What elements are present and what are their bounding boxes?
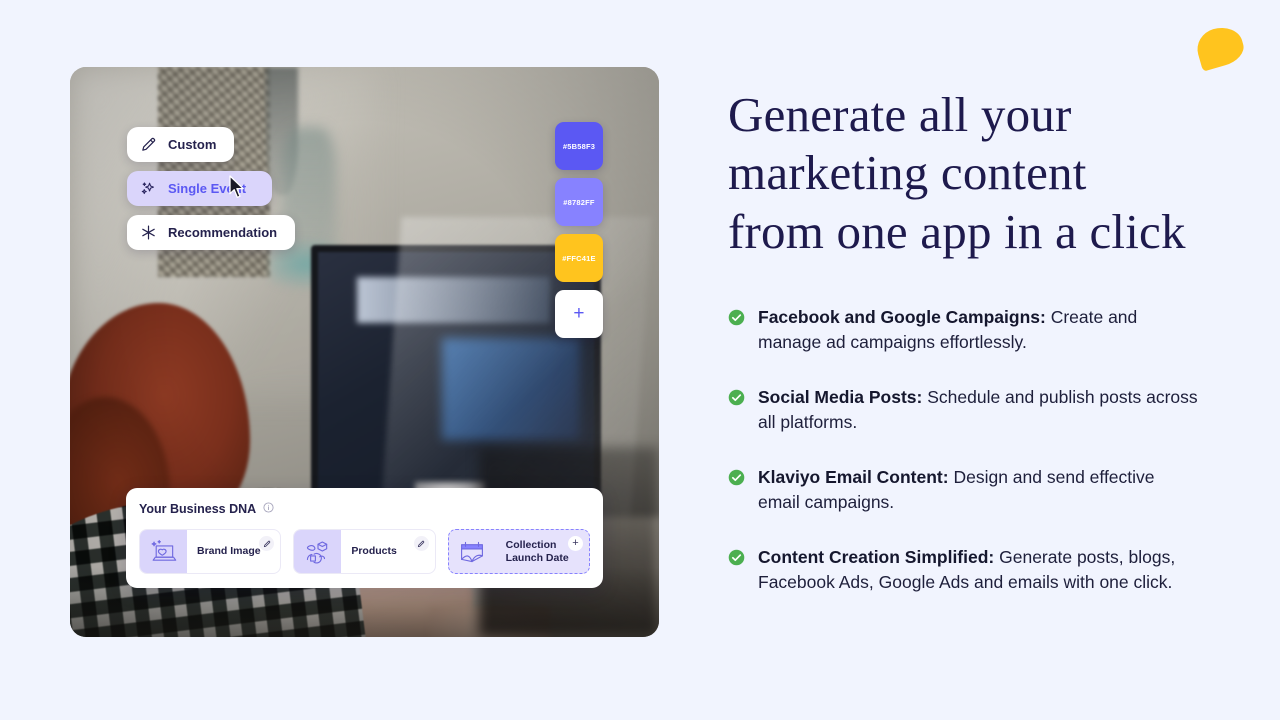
color-swatch-list: #5B58F3 #8782FF #FFC41E + <box>555 122 603 338</box>
check-circle-icon <box>728 469 745 486</box>
calendar-icon <box>449 530 496 573</box>
check-circle-icon <box>728 549 745 566</box>
list-item: Content Creation Simplified: Generate po… <box>728 545 1198 595</box>
dna-card-label-line2: Launch Date <box>506 552 569 564</box>
business-dna-title: Your Business DNA <box>139 502 256 516</box>
list-item-text: Klaviyo Email Content: Design and send e… <box>758 465 1198 515</box>
dna-card-collection-launch-date-label: Collection Launch Date <box>496 539 569 564</box>
list-item-title: Content Creation Simplified: <box>758 547 994 567</box>
sparkle-icon <box>140 180 157 197</box>
headline-line-1: Generate all your <box>728 87 1072 142</box>
business-dna-header: Your Business DNA <box>139 500 590 518</box>
list-item-title: Facebook and Google Campaigns: <box>758 307 1046 327</box>
dna-card-products-label: Products <box>341 545 397 558</box>
chip-custom[interactable]: Custom <box>127 127 234 162</box>
dna-card-collection-launch-date[interactable]: Collection Launch Date + <box>448 529 590 574</box>
edit-pencil-icon-brand-image[interactable] <box>259 536 274 551</box>
chip-single-event[interactable]: Single Event <box>127 171 272 206</box>
color-swatch-2[interactable]: #8782FF <box>555 178 603 226</box>
add-plus-icon-collection-launch-date[interactable]: + <box>568 536 583 551</box>
dna-card-brand-image-label: Brand Image <box>187 545 261 558</box>
dna-card-products[interactable]: Products <box>293 529 435 574</box>
products-icon <box>294 530 341 573</box>
list-item: Facebook and Google Campaigns: Create an… <box>728 305 1198 355</box>
list-item-title: Klaviyo Email Content: <box>758 467 949 487</box>
page-title: Generate all your marketing content from… <box>728 86 1198 261</box>
color-swatch-3-label: #FFC41E <box>562 254 596 263</box>
business-dna-panel: Your Business DNA <box>126 488 603 588</box>
list-item-text: Facebook and Google Campaigns: Create an… <box>758 305 1198 355</box>
color-swatch-1-label: #5B58F3 <box>563 142 595 151</box>
chip-custom-label: Custom <box>168 137 216 152</box>
plus-icon: + <box>573 303 584 325</box>
chip-recommendation[interactable]: Recommendation <box>127 215 295 250</box>
color-swatch-2-label: #8782FF <box>563 198 594 207</box>
event-type-chip-group: Custom Single Event Recommendation <box>127 127 295 250</box>
headline-line-3: from one app in a click <box>728 204 1186 259</box>
check-circle-icon <box>728 309 745 326</box>
business-dna-card-list: Brand Image <box>139 529 590 574</box>
list-item-title: Social Media Posts: <box>758 387 922 407</box>
color-swatch-3[interactable]: #FFC41E <box>555 234 603 282</box>
info-icon[interactable] <box>263 500 274 518</box>
asterisk-icon <box>140 224 157 241</box>
add-color-button[interactable]: + <box>555 290 603 338</box>
dna-card-label-line1: Collection <box>506 539 557 551</box>
color-swatch-1[interactable]: #5B58F3 <box>555 122 603 170</box>
pencil-icon <box>140 136 157 153</box>
list-item: Social Media Posts: Schedule and publish… <box>728 385 1198 435</box>
feature-bullet-list: Facebook and Google Campaigns: Create an… <box>728 305 1198 595</box>
chip-recommendation-label: Recommendation <box>168 225 277 240</box>
laptop-sparkle-icon <box>140 530 187 573</box>
list-item: Klaviyo Email Content: Design and send e… <box>728 465 1198 515</box>
yellow-petal-shape <box>1193 22 1248 71</box>
check-circle-icon <box>728 389 745 406</box>
edit-pencil-icon-products[interactable] <box>414 536 429 551</box>
mouse-pointer-icon <box>229 175 247 200</box>
marketing-copy-column: Generate all your marketing content from… <box>728 86 1198 595</box>
product-screenshot-visual: Custom Single Event Recommendation <box>70 67 659 637</box>
list-item-text: Social Media Posts: Schedule and publish… <box>758 385 1198 435</box>
headline-line-2: marketing content <box>728 145 1087 200</box>
list-item-text: Content Creation Simplified: Generate po… <box>758 545 1198 595</box>
dna-card-brand-image[interactable]: Brand Image <box>139 529 281 574</box>
